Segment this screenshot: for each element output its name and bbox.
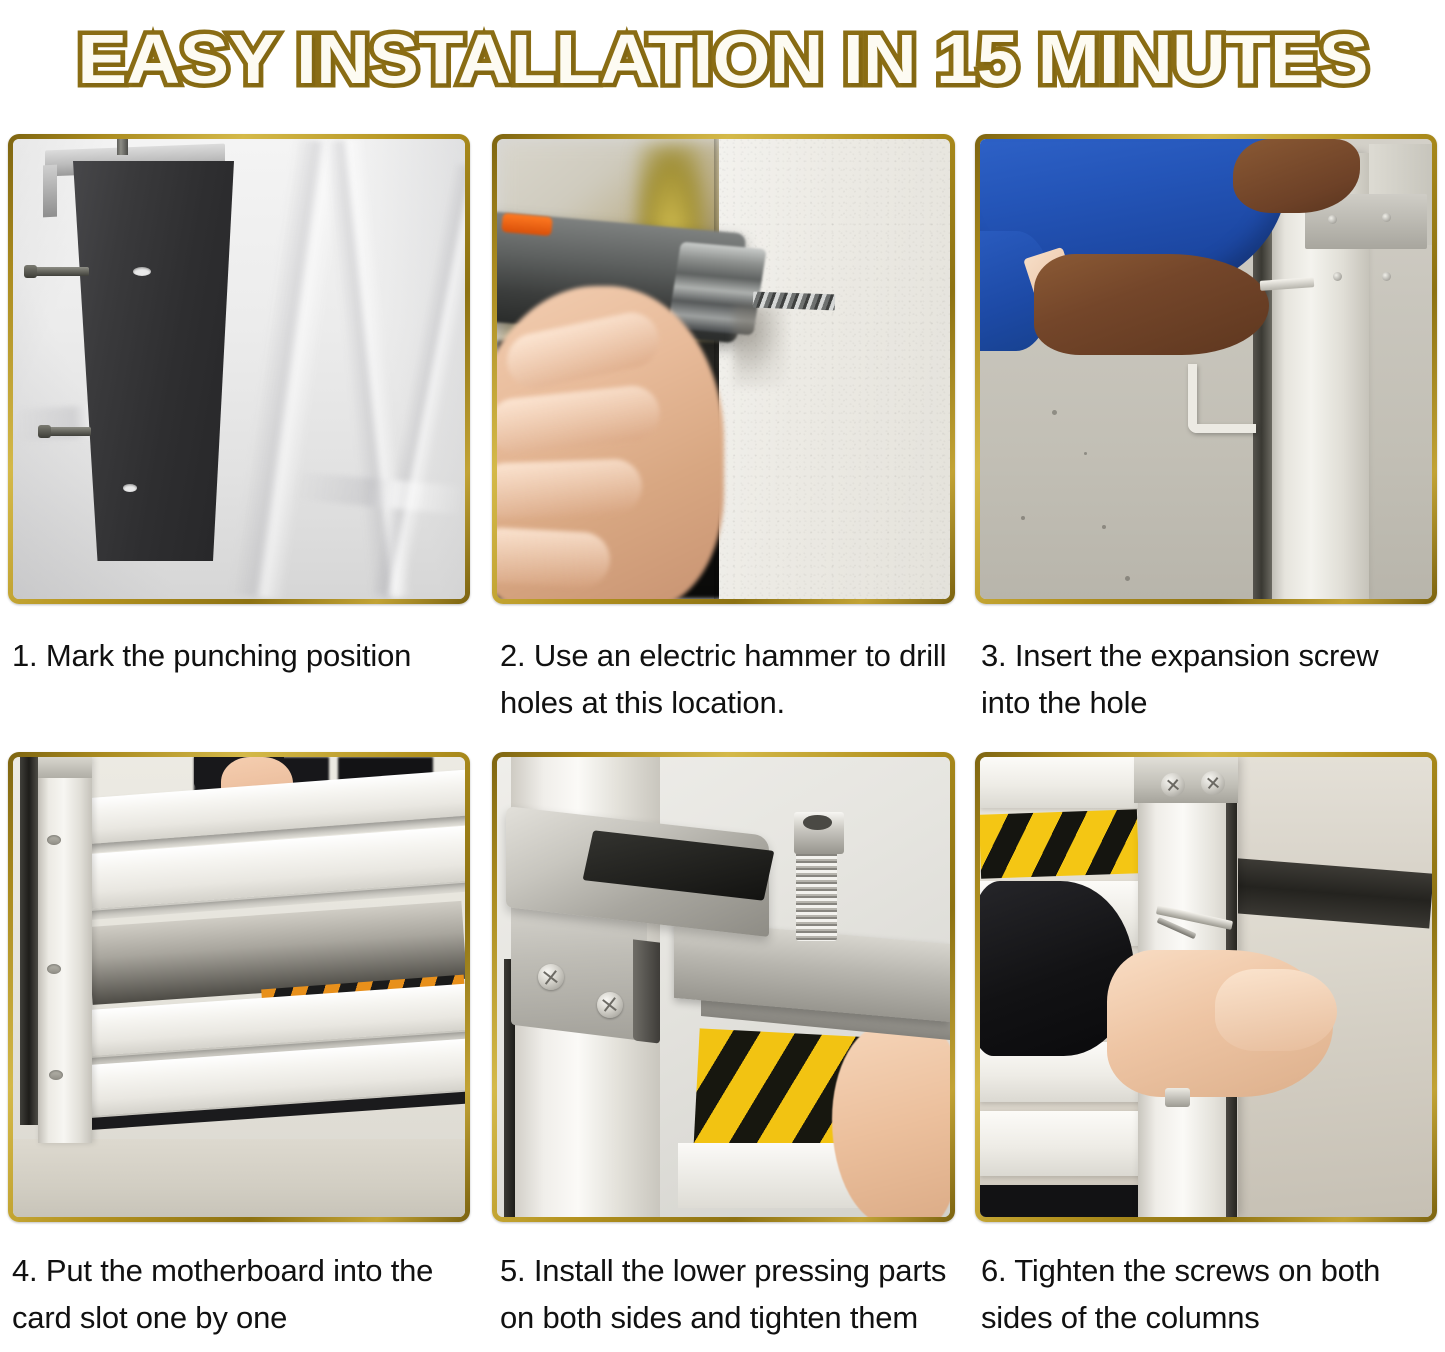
step-1-frame — [8, 134, 470, 604]
step-6-frame — [975, 752, 1437, 1222]
step-4-image — [13, 757, 465, 1217]
step-6-caption: 6. Tighten the screws on both sides of t… — [981, 1247, 1429, 1341]
page-title-banner: EASY INSTALLATION IN 15 MINUTES — [0, 0, 1445, 118]
page-title: EASY INSTALLATION IN 15 MINUTES — [77, 21, 1367, 97]
step-6-photo-cell — [965, 740, 1445, 1237]
step-3-caption: 3. Insert the expansion screw into the h… — [981, 632, 1429, 726]
step-3-image — [980, 139, 1432, 599]
step-3-caption-cell: 3. Insert the expansion screw into the h… — [965, 622, 1445, 740]
step-1-caption-cell: 1. Mark the punching position — [0, 622, 480, 740]
step-1-photo-cell — [0, 122, 480, 622]
installation-guide-page: EASY INSTALLATION IN 15 MINUTES — [0, 0, 1445, 1352]
step-6-caption-cell: 6. Tighten the screws on both sides of t… — [965, 1237, 1445, 1352]
step-2-image — [497, 139, 950, 599]
step-5-photo-cell — [480, 740, 965, 1237]
step-5-caption: 5. Install the lower pressing parts on b… — [500, 1247, 949, 1341]
step-4-caption-cell: 4. Put the motherboard into the card slo… — [0, 1237, 480, 1352]
step-1-image — [13, 139, 465, 599]
step-3-photo-cell — [965, 122, 1445, 622]
step-4-frame — [8, 752, 470, 1222]
step-2-caption: 2. Use an electric hammer to drill holes… — [500, 632, 949, 726]
step-2-caption-cell: 2. Use an electric hammer to drill holes… — [480, 622, 965, 740]
steps-grid: 1. Mark the punching position 2. Use an … — [0, 122, 1445, 1352]
step-4-photo-cell — [0, 740, 480, 1237]
step-2-photo-cell — [480, 122, 965, 622]
step-5-caption-cell: 5. Install the lower pressing parts on b… — [480, 1237, 965, 1352]
step-5-frame — [492, 752, 955, 1222]
step-6-image — [980, 757, 1432, 1217]
step-4-caption: 4. Put the motherboard into the card slo… — [12, 1247, 464, 1341]
step-2-frame — [492, 134, 955, 604]
step-3-frame — [975, 134, 1437, 604]
step-1-caption: 1. Mark the punching position — [12, 632, 464, 679]
step-5-image — [497, 757, 950, 1217]
